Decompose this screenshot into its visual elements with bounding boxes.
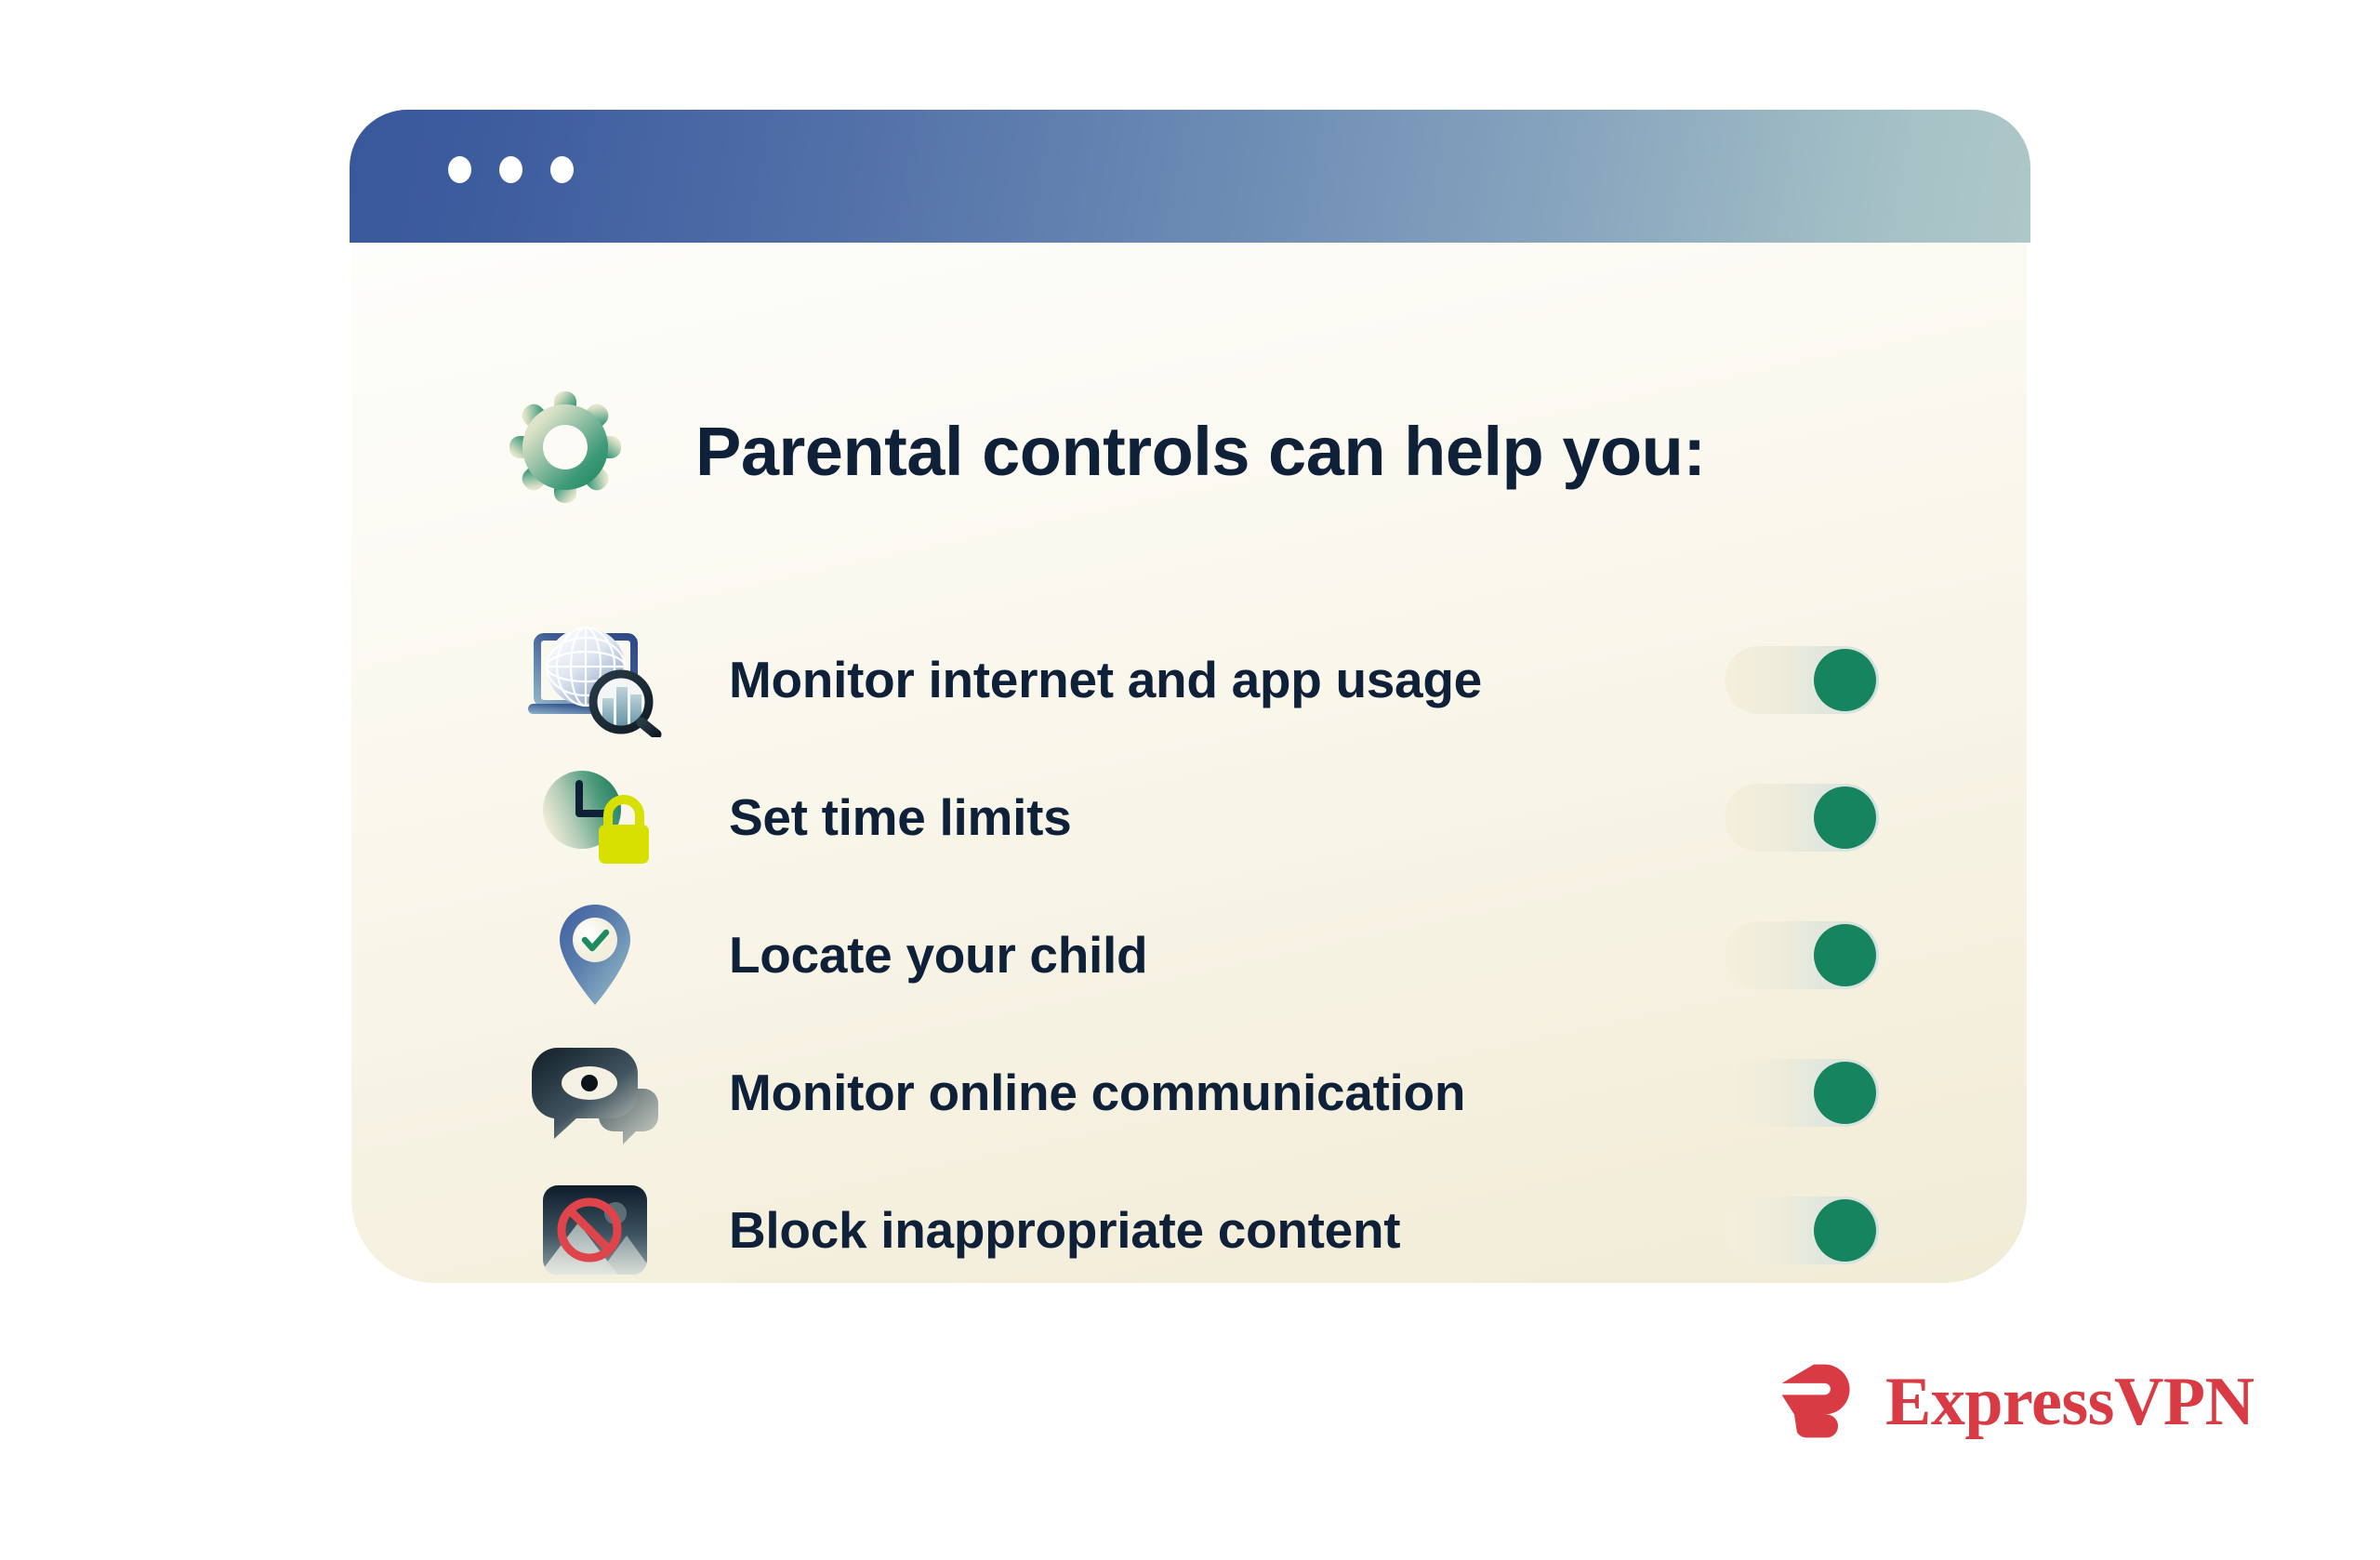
window-dot-close-icon[interactable]	[448, 156, 471, 183]
screenshot-root: Parental controls can help you:	[0, 0, 2380, 1560]
toggle-knob	[1814, 1199, 1876, 1262]
feature-row-online-communication[interactable]: Monitor online communication	[351, 1024, 2027, 1161]
window-controls	[448, 156, 574, 183]
clock-lock-icon	[524, 760, 666, 875]
feature-row-monitor-usage[interactable]: Monitor internet and app usage	[351, 611, 2027, 748]
window-dot-maximize-icon[interactable]	[550, 156, 574, 183]
browser-window-card: Parental controls can help you:	[350, 110, 2030, 1283]
map-pin-check-icon	[524, 897, 666, 1012]
feature-label: Locate your child	[729, 925, 1147, 985]
page-title: Parental controls can help you:	[695, 412, 1706, 492]
speech-bubble-eye-icon	[524, 1035, 666, 1150]
toggle-knob	[1814, 924, 1876, 986]
expressvpn-logo-mark	[1772, 1357, 1861, 1447]
laptop-globe-magnifier-icon	[524, 622, 666, 737]
toggle-knob	[1814, 787, 1876, 849]
feature-label: Monitor internet and app usage	[729, 650, 1482, 709]
feature-label: Block inappropriate content	[729, 1200, 1400, 1260]
window-dot-minimize-icon[interactable]	[499, 156, 522, 183]
feature-row-block-content[interactable]: Block inappropriate content	[351, 1161, 2027, 1299]
feature-toggle-time-limits[interactable]	[1725, 784, 1879, 852]
window-content-panel: Parental controls can help you:	[351, 243, 2027, 1283]
toggle-knob	[1814, 649, 1876, 711]
gear-icon	[509, 391, 621, 503]
feature-toggle-locate-child[interactable]	[1725, 921, 1879, 989]
feature-toggle-block-content[interactable]	[1725, 1196, 1879, 1264]
feature-toggle-monitor-usage[interactable]	[1725, 646, 1879, 714]
feature-label: Monitor online communication	[729, 1063, 1465, 1122]
feature-row-time-limits[interactable]: Set time limits	[351, 748, 2027, 886]
feature-toggle-online-communication[interactable]	[1725, 1059, 1879, 1127]
window-title-bar	[350, 110, 2030, 243]
feature-row-locate-child[interactable]: Locate your child	[351, 886, 2027, 1024]
feature-list: Monitor internet and app usage	[351, 611, 2027, 1299]
expressvpn-logo: ExpressVPN	[1772, 1357, 2254, 1447]
toggle-knob	[1814, 1062, 1876, 1124]
expressvpn-wordmark: ExpressVPN	[1885, 1365, 2254, 1439]
blocked-content-icon	[524, 1172, 666, 1288]
feature-label: Set time limits	[729, 787, 1071, 847]
